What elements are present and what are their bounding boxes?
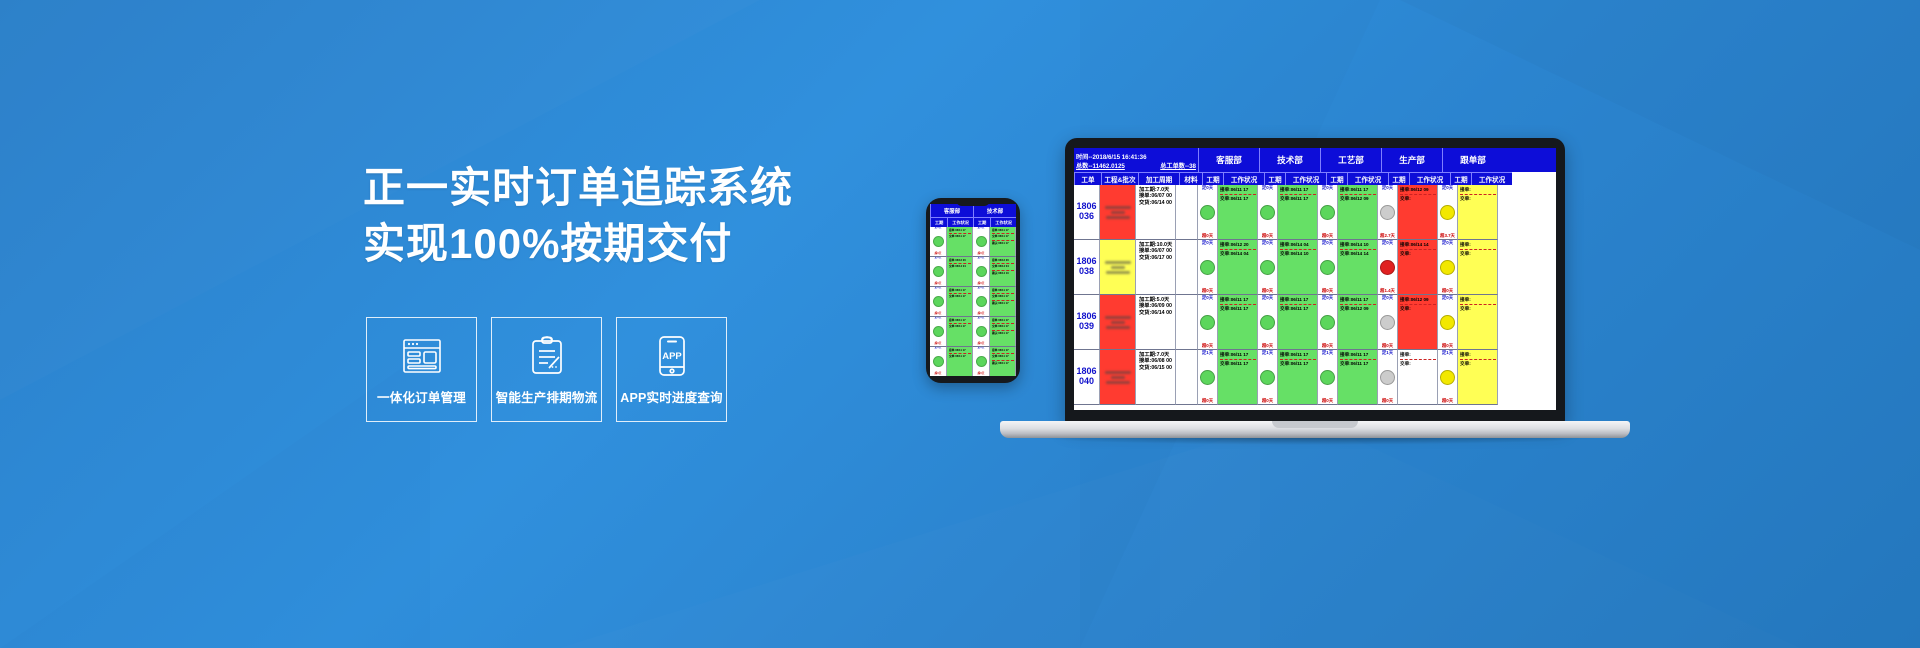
worklog-delivered: 交单: [1400, 196, 1436, 202]
total-orders-label: 总工单数--38 [1160, 161, 1196, 170]
phone-tag2-bottom: 超0天 [973, 343, 989, 346]
dept-worklog-技术部[interactable]: 接单:06/11 17交单:06/11 17 [1278, 295, 1318, 350]
phone-tag2-bottom: 超0天 [973, 283, 989, 286]
dept-worklog-工艺部[interactable]: 接单:06/11 17交单:06/12 09 [1338, 185, 1378, 240]
duration-tag-bottom: 超3.7天 [1438, 233, 1457, 239]
material[interactable] [1176, 295, 1198, 350]
processing-cycle[interactable]: 加工期:10.0天接单:06/07 00交货:06/17 00 [1136, 240, 1176, 295]
worklog-received: 接单:06/11 17 [1340, 352, 1376, 358]
phone-worklog-2[interactable]: 接单:06/11 17交单:06/11 17确认:06/11 17 [990, 317, 1016, 347]
dept-duration-生产部[interactable]: 定0天超0天 [1378, 295, 1398, 350]
dept-worklog-工艺部[interactable]: 接单:06/14 10交单:06/14 14 [1338, 240, 1378, 295]
dept-duration-客服部[interactable]: 定1天超0天 [1198, 350, 1218, 405]
cycle-delivery: 交货:06/15 00 [1139, 365, 1173, 371]
phone-duration-2[interactable]: 定0天超0天 [973, 317, 990, 347]
dept-worklog-技术部[interactable]: 接单:06/11 17交单:06/11 17 [1278, 350, 1318, 405]
phone-worklog2-received: 接单:06/11 17 [992, 319, 1014, 322]
col-header-客服部-工作状况: 工作状况 [1223, 172, 1264, 185]
duration-tag-bottom: 超0天 [1318, 398, 1337, 404]
dept-duration-工艺部[interactable]: 定0天超0天 [1318, 240, 1338, 295]
feature-label: 智能生产排期物流 [496, 387, 598, 406]
duration-tag-bottom: 超0天 [1258, 398, 1277, 404]
duration-tag-bottom: 超0天 [1258, 233, 1277, 239]
status-dot [1200, 315, 1215, 330]
phone-table-row[interactable]: 定0天超0天接单:06/11 17交单:06/11 17定0天超0天接单:06/… [930, 227, 1016, 257]
phone-duration-1[interactable]: 定0天超0天 [930, 257, 947, 287]
phone-worklog-received: 接单:06/12 20 [949, 259, 971, 262]
headline-line-2: 实现100%按期交付 [363, 216, 883, 272]
status-dot [1440, 260, 1455, 275]
project-batch[interactable] [1100, 295, 1136, 350]
phone-duration-1[interactable]: 定0天超0天 [930, 317, 947, 347]
erp-title-bar: 时间--2018/6/15 16:41:36总数--11462.0125总工单数… [1074, 148, 1556, 172]
dept-worklog-跟单部[interactable]: 接单:交单: [1458, 240, 1498, 295]
phone-worklog-2[interactable]: 接单:06/11 17交单:06/11 17确认:06/11 17 [990, 287, 1016, 317]
laptop-base [1000, 421, 1630, 438]
feature-card-app-tracking[interactable]: APP APP实时进度查询 [616, 317, 727, 422]
phone-status-dot [933, 236, 944, 247]
phone-worklog-received: 接单:06/11 17 [949, 349, 971, 352]
phone-worklog2-delivered: 交单:06/11 17 [992, 355, 1014, 358]
phone-worklog-delivered: 交单:06/11 17 [949, 325, 971, 328]
worklog-delivered: 交单:06/11 17 [1280, 306, 1316, 312]
duration-tag-bottom: 超0天 [1198, 343, 1217, 349]
order-number[interactable]: 1806038 [1074, 240, 1100, 295]
cycle-delivery: 交货:06/14 00 [1139, 310, 1173, 316]
col-header-技术部-工期: 工期 [1264, 172, 1285, 185]
dept-duration-跟单部[interactable]: 定0天超0天 [1438, 240, 1458, 295]
status-dot [1320, 315, 1335, 330]
phone-tag-bottom: 超0天 [930, 313, 946, 316]
mobile-app-icon: APP [657, 333, 687, 379]
phone-status-dot-2 [976, 356, 987, 367]
phone-worklog2-delivered: 交单:06/14 04 [992, 265, 1014, 268]
dept-header-3: 工艺部 [1320, 148, 1381, 172]
phone-duration-2[interactable]: 定0天超0天 [973, 287, 990, 317]
status-dot [1440, 315, 1455, 330]
erp-column-headers: 工单工程&批次加工周期材料工期工作状况工期工作状况工期工作状况工期工作状况工期工… [1074, 172, 1556, 185]
dept-duration-生产部[interactable]: 定0天超1.4天 [1378, 240, 1398, 295]
worklog-delivered: 交单:06/11 17 [1220, 196, 1256, 202]
material[interactable] [1176, 350, 1198, 405]
worklog-received: 接单: [1460, 242, 1496, 248]
duration-tag-bottom: 超0天 [1198, 288, 1217, 294]
dept-worklog-工艺部[interactable]: 接单:06/11 17交单:06/11 17 [1338, 350, 1378, 405]
dept-duration-客服部[interactable]: 定0天超0天 [1198, 295, 1218, 350]
total-amount-label: 总数--11462.0125 [1076, 161, 1125, 170]
phone-erp-table[interactable]: 客服部技术部工期工作状况工期工作状况定0天超0天接单:06/11 17交单:06… [930, 204, 1016, 376]
col-header-fixed-1: 工单 [1074, 172, 1101, 185]
table-row[interactable]: 1806039加工期:5.0天接单:06/09 00交货:06/14 00定0天… [1074, 295, 1556, 350]
phone-worklog2-received: 接单:06/11 17 [992, 229, 1014, 232]
worklog-received: 接单:06/12 09 [1400, 187, 1436, 193]
phone-worklog-1[interactable]: 接单:06/11 17交单:06/11 17 [947, 287, 973, 317]
dept-duration-跟单部[interactable]: 定0天超3.7天 [1438, 185, 1458, 240]
duration-tag-bottom: 超0天 [1378, 343, 1397, 349]
project-batch[interactable] [1100, 350, 1136, 405]
status-dot [1320, 205, 1335, 220]
phone-column-headers: 工期工作状况工期工作状况 [930, 217, 1016, 227]
worklog-received: 接单:06/11 17 [1220, 187, 1256, 193]
phone-worklog2-delivered: 交单:06/11 17 [992, 235, 1014, 238]
status-dot [1200, 370, 1215, 385]
worklog-delivered: 交单:06/11 17 [1220, 306, 1256, 312]
status-dot [1260, 205, 1275, 220]
phone-worklog-received: 接单:06/11 17 [949, 229, 971, 232]
worklog-received: 接单:06/11 17 [1280, 352, 1316, 358]
dept-header-5: 跟单部 [1442, 148, 1503, 172]
dept-duration-跟单部[interactable]: 定0天超0天 [1438, 295, 1458, 350]
phone-col-header-技术部-工作状况: 工作状况 [990, 217, 1016, 227]
phone-worklog2-confirmed: 确认:06/14 10 [992, 272, 1014, 275]
dept-duration-生产部[interactable]: 定1天超0天 [1378, 350, 1398, 405]
project-batch[interactable] [1100, 185, 1136, 240]
phone-table-row[interactable]: 定0天超0天接单:06/11 17交单:06/11 17定0天超0天接单:06/… [930, 347, 1016, 376]
processing-cycle[interactable]: 加工期:7.0天接单:06/07 00交货:06/14 00 [1136, 185, 1176, 240]
phone-tag2-bottom: 超0天 [973, 253, 989, 256]
phone-status-dot [933, 356, 944, 367]
dept-duration-客服部[interactable]: 定0天超0天 [1198, 240, 1218, 295]
cycle-delivery: 交货:06/17 00 [1139, 255, 1173, 261]
duration-tag-bottom: 超0天 [1198, 398, 1217, 404]
dept-worklog-客服部[interactable]: 接单:06/12 20交单:06/14 04 [1218, 240, 1258, 295]
col-header-fixed-3: 加工周期 [1138, 172, 1179, 185]
duration-tag-bottom: 超0天 [1258, 343, 1277, 349]
phone-worklog-1[interactable]: 接单:06/11 17交单:06/11 17 [947, 227, 973, 257]
worklog-delivered: 交单:06/11 17 [1340, 361, 1376, 367]
status-dot [1440, 205, 1455, 220]
worklog-delivered: 交单:06/11 17 [1280, 196, 1316, 202]
dept-duration-工艺部[interactable]: 定0天超0天 [1318, 295, 1338, 350]
dept-worklog-生产部[interactable]: 接单:06/12 09交单: [1398, 185, 1438, 240]
status-dot [1260, 370, 1275, 385]
dept-worklog-客服部[interactable]: 接单:06/11 17交单:06/11 17 [1218, 295, 1258, 350]
worklog-received: 接单:06/11 17 [1220, 297, 1256, 303]
duration-tag-bottom: 超2.7天 [1378, 233, 1397, 239]
col-header-工艺部-工期: 工期 [1326, 172, 1347, 185]
dept-worklog-技术部[interactable]: 接单:06/11 17交单:06/11 17 [1278, 185, 1318, 240]
phone-tag-bottom: 超0天 [930, 343, 946, 346]
duration-tag-bottom: 超0天 [1318, 233, 1337, 239]
dept-header-1: 客服部 [1198, 148, 1259, 172]
table-row[interactable]: 1806038加工期:10.0天接单:06/07 00交货:06/17 00定0… [1074, 240, 1556, 295]
phone-status-dot-2 [976, 296, 987, 307]
dept-worklog-生产部[interactable]: 接单:06/14 14交单: [1398, 240, 1438, 295]
phone-worklog-2[interactable]: 接单:06/12 20交单:06/14 04确认:06/14 10 [990, 257, 1016, 287]
dept-duration-技术部[interactable]: 定0天超0天 [1258, 295, 1278, 350]
phone-worklog2-received: 接单:06/11 17 [992, 349, 1014, 352]
worklog-delivered: 交单:06/14 14 [1340, 251, 1376, 257]
phone-worklog-delivered: 交单:06/14 04 [949, 265, 971, 268]
phone-notch [956, 200, 990, 206]
phone-col-header-客服部-工期: 工期 [930, 217, 947, 227]
duration-tag-bottom: 超0天 [1438, 398, 1457, 404]
phone-duration-2[interactable]: 定0天超0天 [973, 347, 990, 376]
phone-duration-2[interactable]: 定0天超0天 [973, 227, 990, 257]
worklog-delivered: 交单: [1460, 361, 1496, 367]
phone-worklog2-confirmed: 确认:06/11 17 [992, 362, 1014, 365]
phone-worklog2-delivered: 交单:06/11 17 [992, 325, 1014, 328]
status-dot [1380, 315, 1395, 330]
order-number[interactable]: 1806039 [1074, 295, 1100, 350]
worklog-received: 接单: [1400, 352, 1436, 358]
worklog-received: 接单:06/11 17 [1340, 297, 1376, 303]
phone-status-dot [933, 296, 944, 307]
cycle-received: 接单:06/09 00 [1139, 303, 1173, 309]
phone-worklog-received: 接单:06/11 17 [949, 319, 971, 322]
phone-duration-2[interactable]: 定0天超0天 [973, 257, 990, 287]
phone-tag2-bottom: 超0天 [973, 373, 989, 376]
status-dot [1260, 315, 1275, 330]
dept-duration-工艺部[interactable]: 定1天超0天 [1318, 350, 1338, 405]
feature-label: 一体化订单管理 [377, 387, 466, 406]
laptop-device: 时间--2018/6/15 16:41:36总数--11462.0125总工单数… [1055, 138, 1575, 438]
project-batch[interactable] [1100, 240, 1136, 295]
duration-tag-bottom: 超0天 [1198, 233, 1217, 239]
feature-label: APP实时进度查询 [620, 387, 723, 406]
phone-tag-bottom: 超0天 [930, 373, 946, 376]
worklog-delivered: 交单:06/12 09 [1340, 196, 1376, 202]
processing-cycle[interactable]: 加工期:7.0天接单:06/08 00交货:06/15 00 [1136, 350, 1176, 405]
cycle-received: 接单:06/07 00 [1139, 193, 1173, 199]
col-header-跟单部-工期: 工期 [1450, 172, 1471, 185]
phone-tag2-bottom: 超0天 [973, 313, 989, 316]
laptop-erp-table[interactable]: 时间--2018/6/15 16:41:36总数--11462.0125总工单数… [1074, 148, 1556, 405]
phone-status-dot-2 [976, 266, 987, 277]
dept-worklog-跟单部[interactable]: 接单:交单: [1458, 295, 1498, 350]
phone-worklog-1[interactable]: 接单:06/12 20交单:06/14 04 [947, 257, 973, 287]
phone-worklog-2[interactable]: 接单:06/11 17交单:06/11 17确认:06/11 17 [990, 227, 1016, 257]
order-number[interactable]: 1806040 [1074, 350, 1100, 405]
duration-tag-bottom: 超0天 [1438, 288, 1457, 294]
feature-card-production-scheduling[interactable]: 智能生产排期物流 [491, 317, 602, 422]
phone-table-row[interactable]: 定0天超0天接单:06/11 17交单:06/11 17定0天超0天接单:06/… [930, 317, 1016, 347]
duration-tag-bottom: 超0天 [1438, 343, 1457, 349]
headline-line-1: 正一实时订单追踪系统 [363, 160, 883, 216]
dept-worklog-跟单部[interactable]: 接单:交单: [1458, 185, 1498, 240]
col-header-fixed-4: 材料 [1179, 172, 1202, 185]
phone-status-dot-2 [976, 326, 987, 337]
dept-worklog-客服部[interactable]: 接单:06/11 17交单:06/11 17 [1218, 185, 1258, 240]
worklog-delivered: 交单:06/12 09 [1340, 306, 1376, 312]
worklog-received: 接单:06/11 17 [1220, 352, 1256, 358]
dept-worklog-生产部[interactable]: 接单:06/12 09交单: [1398, 295, 1438, 350]
status-dot [1320, 370, 1335, 385]
hero-copy: 正一实时订单追踪系统 实现100%按期交付 [363, 160, 883, 272]
worklog-delivered: 交单:06/14 04 [1220, 251, 1256, 257]
processing-cycle[interactable]: 加工期:5.0天接单:06/09 00交货:06/14 00 [1136, 295, 1176, 350]
phone-worklog-delivered: 交单:06/11 17 [949, 295, 971, 298]
dept-worklog-工艺部[interactable]: 接单:06/11 17交单:06/12 09 [1338, 295, 1378, 350]
status-dot [1200, 205, 1215, 220]
dept-duration-客服部[interactable]: 定0天超0天 [1198, 185, 1218, 240]
cycle-delivery: 交货:06/14 00 [1139, 200, 1173, 206]
feature-card-order-management[interactable]: 一体化订单管理 [366, 317, 477, 422]
table-row[interactable]: 1806036加工期:7.0天接单:06/07 00交货:06/14 00定0天… [1074, 185, 1556, 240]
phone-worklog2-delivered: 交单:06/11 17 [992, 295, 1014, 298]
cycle-received: 接单:06/07 00 [1139, 248, 1173, 254]
col-header-技术部-工作状况: 工作状况 [1285, 172, 1326, 185]
duration-tag-bottom: 超0天 [1318, 343, 1337, 349]
phone-worklog-delivered: 交单:06/11 17 [949, 235, 971, 238]
phone-col-header-客服部-工作状况: 工作状况 [947, 217, 973, 227]
phone-worklog2-received: 接单:06/12 20 [992, 259, 1014, 262]
col-header-生产部-工作状况: 工作状况 [1409, 172, 1450, 185]
worklog-received: 接单:06/12 20 [1220, 242, 1256, 248]
col-header-生产部-工期: 工期 [1388, 172, 1409, 185]
phone-tag-bottom: 超0天 [930, 253, 946, 256]
dept-header-2: 技术部 [1259, 148, 1320, 172]
worklog-received: 接单:06/11 17 [1280, 297, 1316, 303]
dept-worklog-生产部[interactable]: 接单:交单: [1398, 350, 1438, 405]
app-badge-text: APP [662, 351, 682, 362]
worklog-received: 接单: [1460, 187, 1496, 193]
table-row[interactable]: 1806040加工期:7.0天接单:06/08 00交货:06/15 00定1天… [1074, 350, 1556, 405]
worklog-received: 接单:06/12 09 [1400, 297, 1436, 303]
phone-status-dot [933, 326, 944, 337]
window-dashboard-icon [402, 333, 442, 379]
worklog-delivered: 交单: [1400, 251, 1436, 257]
worklog-received: 接单:06/11 17 [1280, 187, 1316, 193]
laptop-lid: 时间--2018/6/15 16:41:36总数--11462.0125总工单数… [1065, 138, 1565, 424]
dept-duration-工艺部[interactable]: 定0天超0天 [1318, 185, 1338, 240]
laptop-screen[interactable]: 时间--2018/6/15 16:41:36总数--11462.0125总工单数… [1074, 148, 1556, 410]
material[interactable] [1176, 185, 1198, 240]
worklog-received: 接单:06/11 17 [1340, 187, 1376, 193]
dept-duration-技术部[interactable]: 定1天超0天 [1258, 350, 1278, 405]
order-number[interactable]: 1806036 [1074, 185, 1100, 240]
phone-table-row[interactable]: 定0天超0天接单:06/11 17交单:06/11 17定0天超0天接单:06/… [930, 287, 1016, 317]
banner-stage: 正一实时订单追踪系统 实现100%按期交付 一体化订单管理 [0, 0, 1920, 648]
col-header-跟单部-工作状况: 工作状况 [1471, 172, 1512, 185]
duration-tag-bottom: 超0天 [1258, 288, 1277, 294]
phone-screen[interactable]: 客服部技术部工期工作状况工期工作状况定0天超0天接单:06/11 17交单:06… [930, 204, 1016, 376]
status-dot [1440, 370, 1455, 385]
feature-list: 一体化订单管理 智能生产排期物流 [366, 317, 727, 422]
worklog-delivered: 交单: [1460, 196, 1496, 202]
phone-worklog-2[interactable]: 接单:06/11 17交单:06/11 17确认:06/11 17 [990, 347, 1016, 376]
worklog-received: 接单:06/14 14 [1400, 242, 1436, 248]
phone-duration-1[interactable]: 定0天超0天 [930, 347, 947, 376]
dept-header-4: 生产部 [1381, 148, 1442, 172]
duration-tag-bottom: 超1.4天 [1378, 288, 1397, 294]
phone-duration-1[interactable]: 定0天超0天 [930, 287, 947, 317]
phone-worklog-delivered: 交单:06/11 17 [949, 355, 971, 358]
dept-duration-技术部[interactable]: 定0天超0天 [1258, 185, 1278, 240]
worklog-received: 接单: [1460, 297, 1496, 303]
phone-status-dot [933, 266, 944, 277]
phone-worklog2-confirmed: 确认:06/11 17 [992, 332, 1014, 335]
worklog-received: 接单: [1460, 352, 1496, 358]
dept-duration-生产部[interactable]: 定0天超2.7天 [1378, 185, 1398, 240]
status-dot [1260, 260, 1275, 275]
col-header-工艺部-工作状况: 工作状况 [1347, 172, 1388, 185]
phone-worklog-1[interactable]: 接单:06/11 17交单:06/11 17 [947, 317, 973, 347]
status-dot [1380, 205, 1395, 220]
worklog-received: 接单:06/14 04 [1280, 242, 1316, 248]
dept-duration-技术部[interactable]: 定0天超0天 [1258, 240, 1278, 295]
duration-tag-bottom: 超0天 [1318, 288, 1337, 294]
phone-worklog2-confirmed: 确认:06/11 17 [992, 242, 1014, 245]
material[interactable] [1176, 240, 1198, 295]
worklog-delivered: 交单: [1460, 251, 1496, 257]
col-header-fixed-2: 工程&批次 [1101, 172, 1138, 185]
worklog-delivered: 交单: [1460, 306, 1496, 312]
col-header-客服部-工期: 工期 [1202, 172, 1223, 185]
phone-worklog2-confirmed: 确认:06/11 17 [992, 302, 1014, 305]
worklog-delivered: 交单:06/11 17 [1220, 361, 1256, 367]
status-dot [1320, 260, 1335, 275]
phone-col-header-技术部-工期: 工期 [973, 217, 990, 227]
worklog-delivered: 交单: [1400, 361, 1436, 367]
smartphone-device: 客服部技术部工期工作状况工期工作状况定0天超0天接单:06/11 17交单:06… [926, 198, 1020, 383]
phone-tag-bottom: 超0天 [930, 283, 946, 286]
dept-duration-跟单部[interactable]: 定1天超0天 [1438, 350, 1458, 405]
phone-worklog-1[interactable]: 接单:06/11 17交单:06/11 17 [947, 347, 973, 376]
dept-worklog-客服部[interactable]: 接单:06/11 17交单:06/11 17 [1218, 350, 1258, 405]
clock-label: 时间--2018/6/15 16:41:36 [1076, 152, 1198, 161]
clipboard-schedule-icon [529, 333, 565, 379]
phone-worklog-received: 接单:06/11 17 [949, 289, 971, 292]
dept-worklog-技术部[interactable]: 接单:06/14 04交单:06/14 10 [1278, 240, 1318, 295]
status-dot [1380, 370, 1395, 385]
cycle-received: 接单:06/08 00 [1139, 358, 1173, 364]
worklog-delivered: 交单: [1400, 306, 1436, 312]
phone-worklog2-received: 接单:06/11 17 [992, 289, 1014, 292]
duration-tag-bottom: 超0天 [1378, 398, 1397, 404]
status-dot [1200, 260, 1215, 275]
worklog-delivered: 交单:06/14 10 [1280, 251, 1316, 257]
worklog-received: 接单:06/14 10 [1340, 242, 1376, 248]
phone-table-row[interactable]: 定0天超0天接单:06/12 20交单:06/14 04定0天超0天接单:06/… [930, 257, 1016, 287]
dept-worklog-跟单部[interactable]: 接单:交单: [1458, 350, 1498, 405]
phone-status-dot-2 [976, 236, 987, 247]
status-dot [1380, 260, 1395, 275]
phone-duration-1[interactable]: 定0天超0天 [930, 227, 947, 257]
worklog-delivered: 交单:06/11 17 [1280, 361, 1316, 367]
